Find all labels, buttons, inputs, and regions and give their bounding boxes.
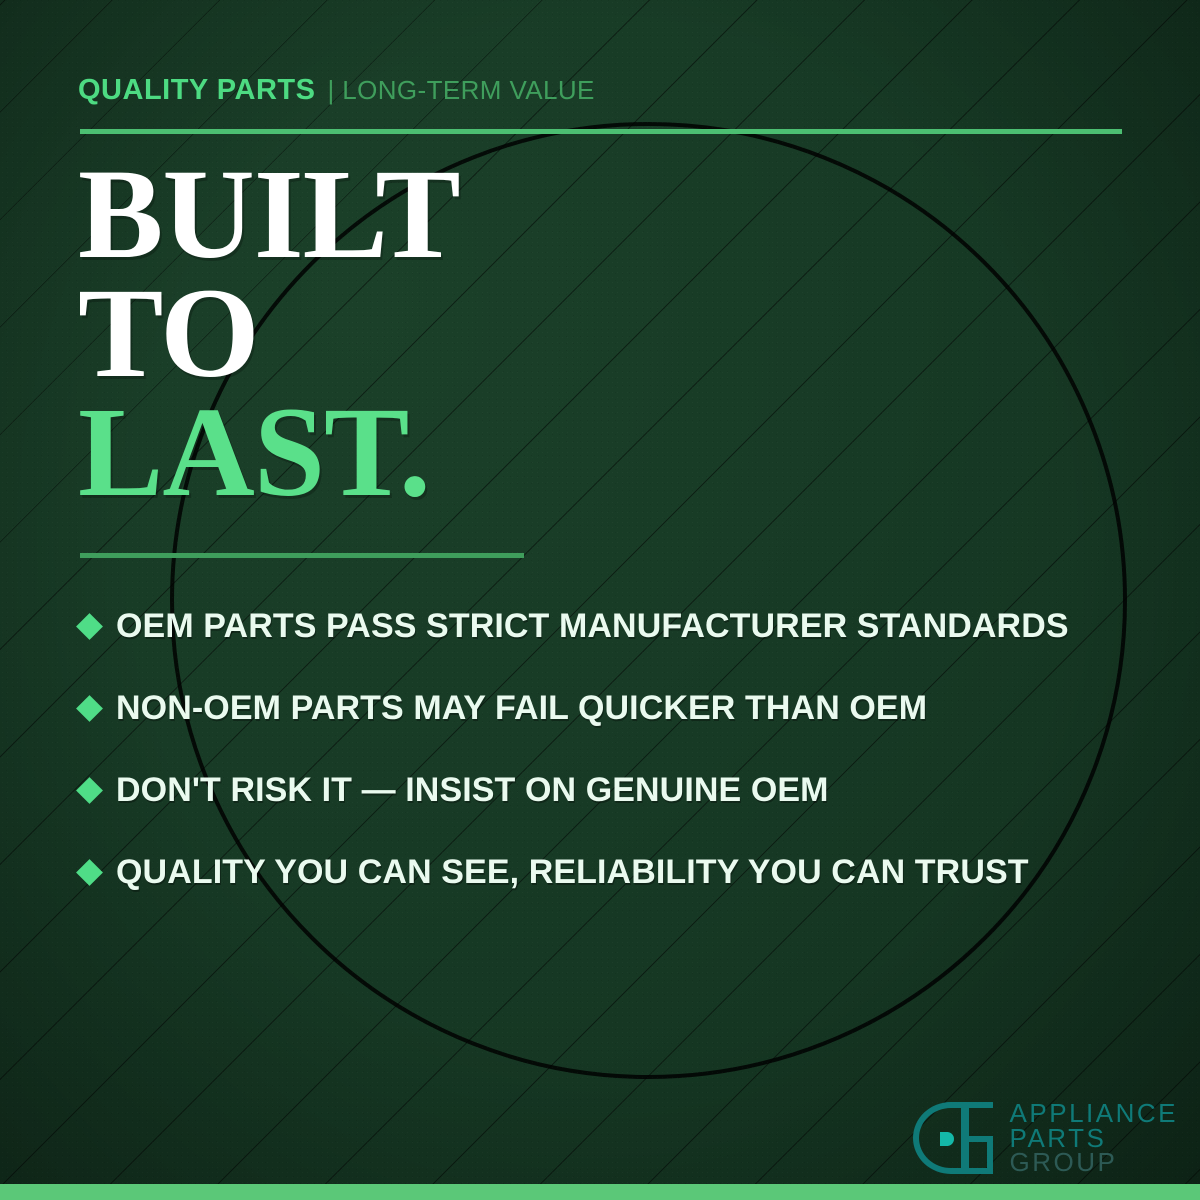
kicker-divider: | — [327, 75, 334, 105]
diamond-bullet-icon — [76, 613, 103, 640]
headline-line-1: BUILT — [78, 155, 460, 274]
benefits-list: OEM PARTS PASS STRICT MANUFACTURER STAND… — [80, 585, 1140, 913]
list-item: DON'T RISK IT — INSIST ON GENUINE OEM — [80, 749, 1140, 831]
bottom-accent-bar — [0, 1184, 1200, 1200]
brand-wordmark: APPLIANCE PARTS GROUP — [1010, 1101, 1178, 1176]
list-item-label: NON-OEM PARTS MAY FAIL QUICKER THAN OEM — [116, 689, 927, 728]
list-item: OEM PARTS PASS STRICT MANUFACTURER STAND… — [80, 585, 1140, 667]
kicker-sub-text: | LONG-TERM VALUE — [327, 75, 594, 106]
poster-canvas: QUALITY PARTS | LONG-TERM VALUE BUILT TO… — [0, 0, 1200, 1200]
poster-content: QUALITY PARTS | LONG-TERM VALUE BUILT TO… — [0, 0, 1200, 1200]
list-item-label: QUALITY YOU CAN SEE, RELIABILITY YOU CAN… — [116, 853, 1029, 892]
kicker-eyebrow: QUALITY PARTS | LONG-TERM VALUE — [78, 74, 595, 107]
g-monogram-icon — [907, 1096, 999, 1180]
page-title: BUILT TO LAST. — [78, 155, 460, 512]
brand-logo: APPLIANCE PARTS GROUP — [907, 1096, 1178, 1180]
diamond-bullet-icon — [76, 777, 103, 804]
kicker-main-text: QUALITY PARTS — [78, 74, 315, 107]
headline-divider-rule — [80, 553, 524, 558]
list-item-label: DON'T RISK IT — INSIST ON GENUINE OEM — [116, 771, 829, 810]
list-item: NON-OEM PARTS MAY FAIL QUICKER THAN OEM — [80, 667, 1140, 749]
list-item-label: OEM PARTS PASS STRICT MANUFACTURER STAND… — [116, 607, 1069, 646]
list-item: QUALITY YOU CAN SEE, RELIABILITY YOU CAN… — [80, 831, 1140, 913]
brand-line-3: GROUP — [1010, 1150, 1178, 1175]
diamond-bullet-icon — [76, 859, 103, 886]
header-divider-rule — [80, 129, 1122, 134]
brand-line-1: APPLIANCE — [1010, 1101, 1178, 1126]
diamond-bullet-icon — [76, 695, 103, 722]
headline-line-2: TO — [78, 274, 460, 393]
headline-line-3: LAST. — [78, 393, 460, 512]
kicker-sub-label: LONG-TERM VALUE — [342, 75, 595, 105]
